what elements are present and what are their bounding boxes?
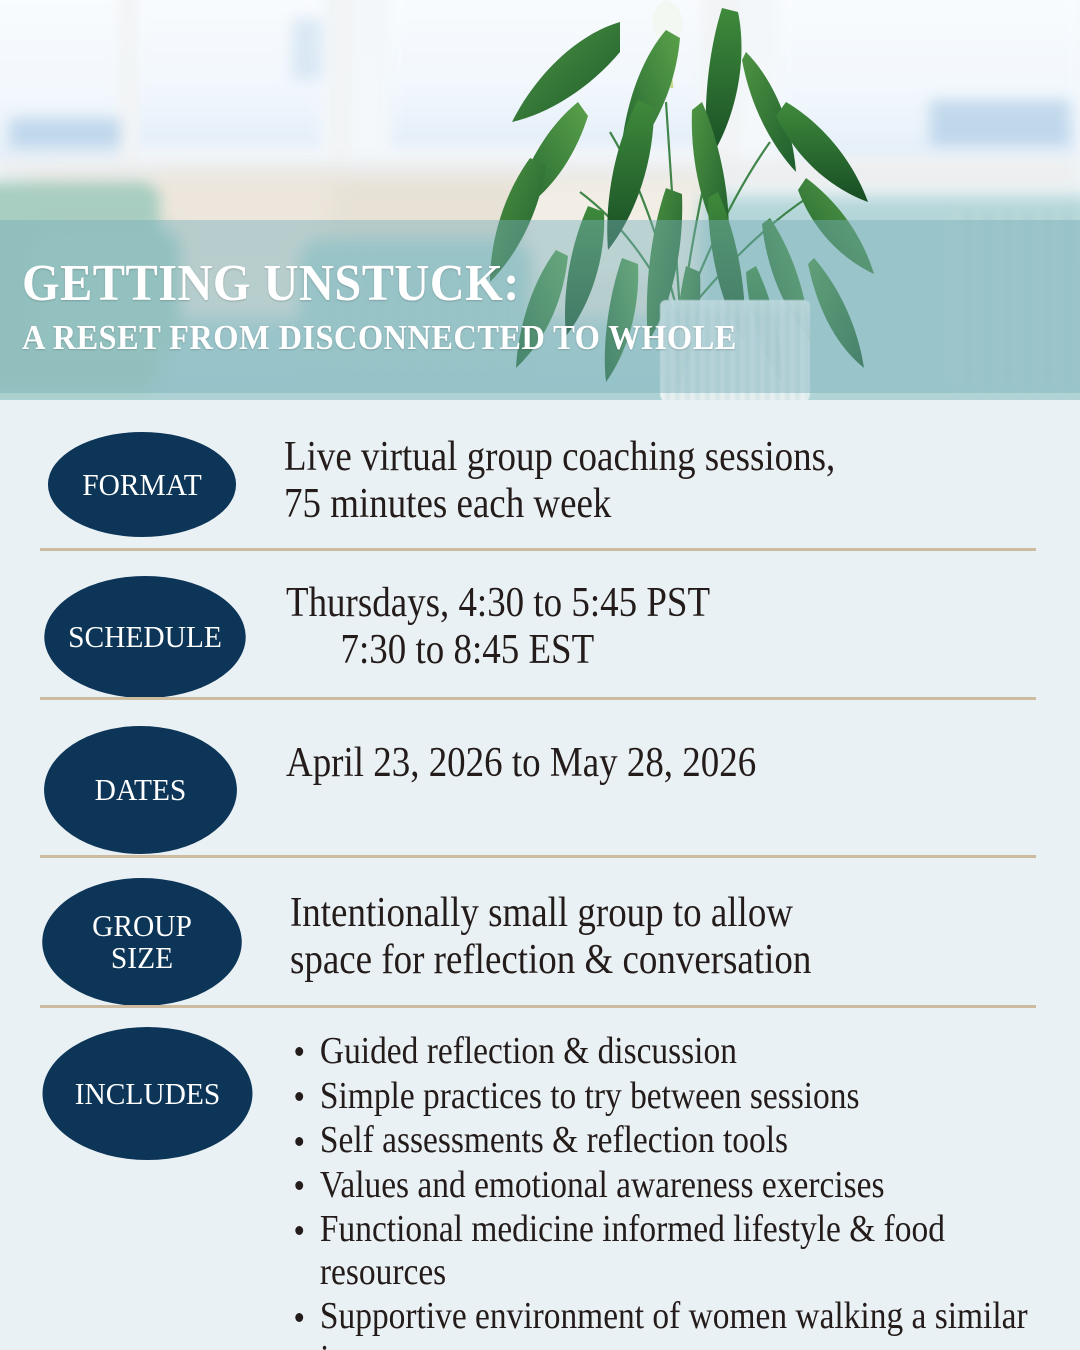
list-item-label: Self assessments & reflection tools: [320, 1119, 788, 1161]
list-item-label: Functional medicine informed lifestyle &…: [320, 1208, 945, 1293]
list-item: Self assessments & reflection tools: [290, 1119, 1073, 1162]
divider-4: [40, 1005, 1036, 1008]
bullet-dot-icon: [295, 1092, 303, 1101]
list-item-label: Values and emotional awareness exercises: [320, 1164, 885, 1206]
row-group-size-line-2: space for reflection & conversation: [290, 937, 1064, 984]
row-schedule-line-2: 7:30 to 8:45 EST: [286, 627, 594, 674]
badge-group-size-label-line-2: SIZE: [111, 942, 173, 974]
badge-group-size: GROUP SIZE: [42, 878, 242, 1006]
list-item-label: Simple practices to try between sessions: [320, 1075, 860, 1117]
row-group-size-text: Intentionally small group to allow space…: [290, 890, 1064, 984]
includes-list: Guided reflection & discussion Simple pr…: [290, 1030, 1073, 1350]
row-format-line-2: 75 minutes each week: [284, 481, 1050, 528]
badge-includes: INCLUDES: [43, 1027, 253, 1160]
list-item: Functional medicine informed lifestyle &…: [290, 1208, 1073, 1293]
row-dates-text: April 23, 2026 to May 28, 2026: [286, 740, 1052, 787]
badge-format: FORMAT: [48, 432, 236, 537]
badge-format-label: FORMAT: [82, 469, 201, 501]
row-schedule-line-1: Thursdays, 4:30 to 5:45 PST: [286, 580, 1052, 627]
badge-dates: DATES: [44, 726, 237, 854]
bullet-dot-icon: [295, 1047, 303, 1056]
skyline-blur-center: [292, 18, 322, 80]
row-schedule-text: Thursdays, 4:30 to 5:45 PST 7:30 to 8:45…: [286, 580, 1052, 674]
list-item: Values and emotional awareness exercises: [290, 1164, 1073, 1207]
window-mullion-a: [118, 0, 138, 178]
bullet-dot-icon: [295, 1137, 303, 1146]
row-group-size-line-1: Intentionally small group to allow: [290, 890, 1064, 937]
list-item: Supportive environment of women walking …: [290, 1295, 1073, 1350]
bullet-dot-icon: [295, 1226, 303, 1235]
details-panel: FORMAT Live virtual group coaching sessi…: [0, 400, 1080, 1350]
badge-group-size-label-line-1: GROUP: [92, 910, 192, 942]
badge-schedule-label: SCHEDULE: [68, 621, 222, 653]
title-block: GETTING UNSTUCK: A RESET FROM DISCONNECT…: [0, 220, 1080, 393]
row-format-line-1: Live virtual group coaching sessions,: [284, 434, 1050, 481]
window-mullion-b: [330, 0, 352, 168]
row-includes-text: Guided reflection & discussion Simple pr…: [290, 1030, 1073, 1350]
badge-schedule: SCHEDULE: [44, 576, 245, 698]
page-title: GETTING UNSTUCK:: [22, 258, 1006, 310]
list-item: Guided reflection & discussion: [290, 1030, 1073, 1073]
list-item-label: Supportive environment of women walking …: [320, 1295, 1028, 1350]
badge-includes-label: INCLUDES: [75, 1078, 221, 1110]
row-dates-line-1: April 23, 2026 to May 28, 2026: [286, 740, 1052, 787]
row-format-text: Live virtual group coaching sessions, 75…: [284, 434, 1050, 528]
divider-3: [40, 855, 1036, 858]
list-item: Simple practices to try between sessions: [290, 1075, 1073, 1118]
flyer-page: GETTING UNSTUCK: A RESET FROM DISCONNECT…: [0, 0, 1080, 1350]
bullet-dot-icon: [295, 1181, 303, 1190]
skyline-blur-right: [930, 100, 1070, 146]
badge-dates-label: DATES: [95, 774, 187, 806]
divider-1: [40, 548, 1036, 551]
page-subtitle: A RESET FROM DISCONNECTED TO WHOLE: [22, 320, 1006, 355]
skyline-blur-left: [10, 118, 120, 148]
divider-2: [40, 697, 1036, 700]
list-item-label: Guided reflection & discussion: [320, 1030, 737, 1072]
bullet-dot-icon: [295, 1313, 303, 1322]
